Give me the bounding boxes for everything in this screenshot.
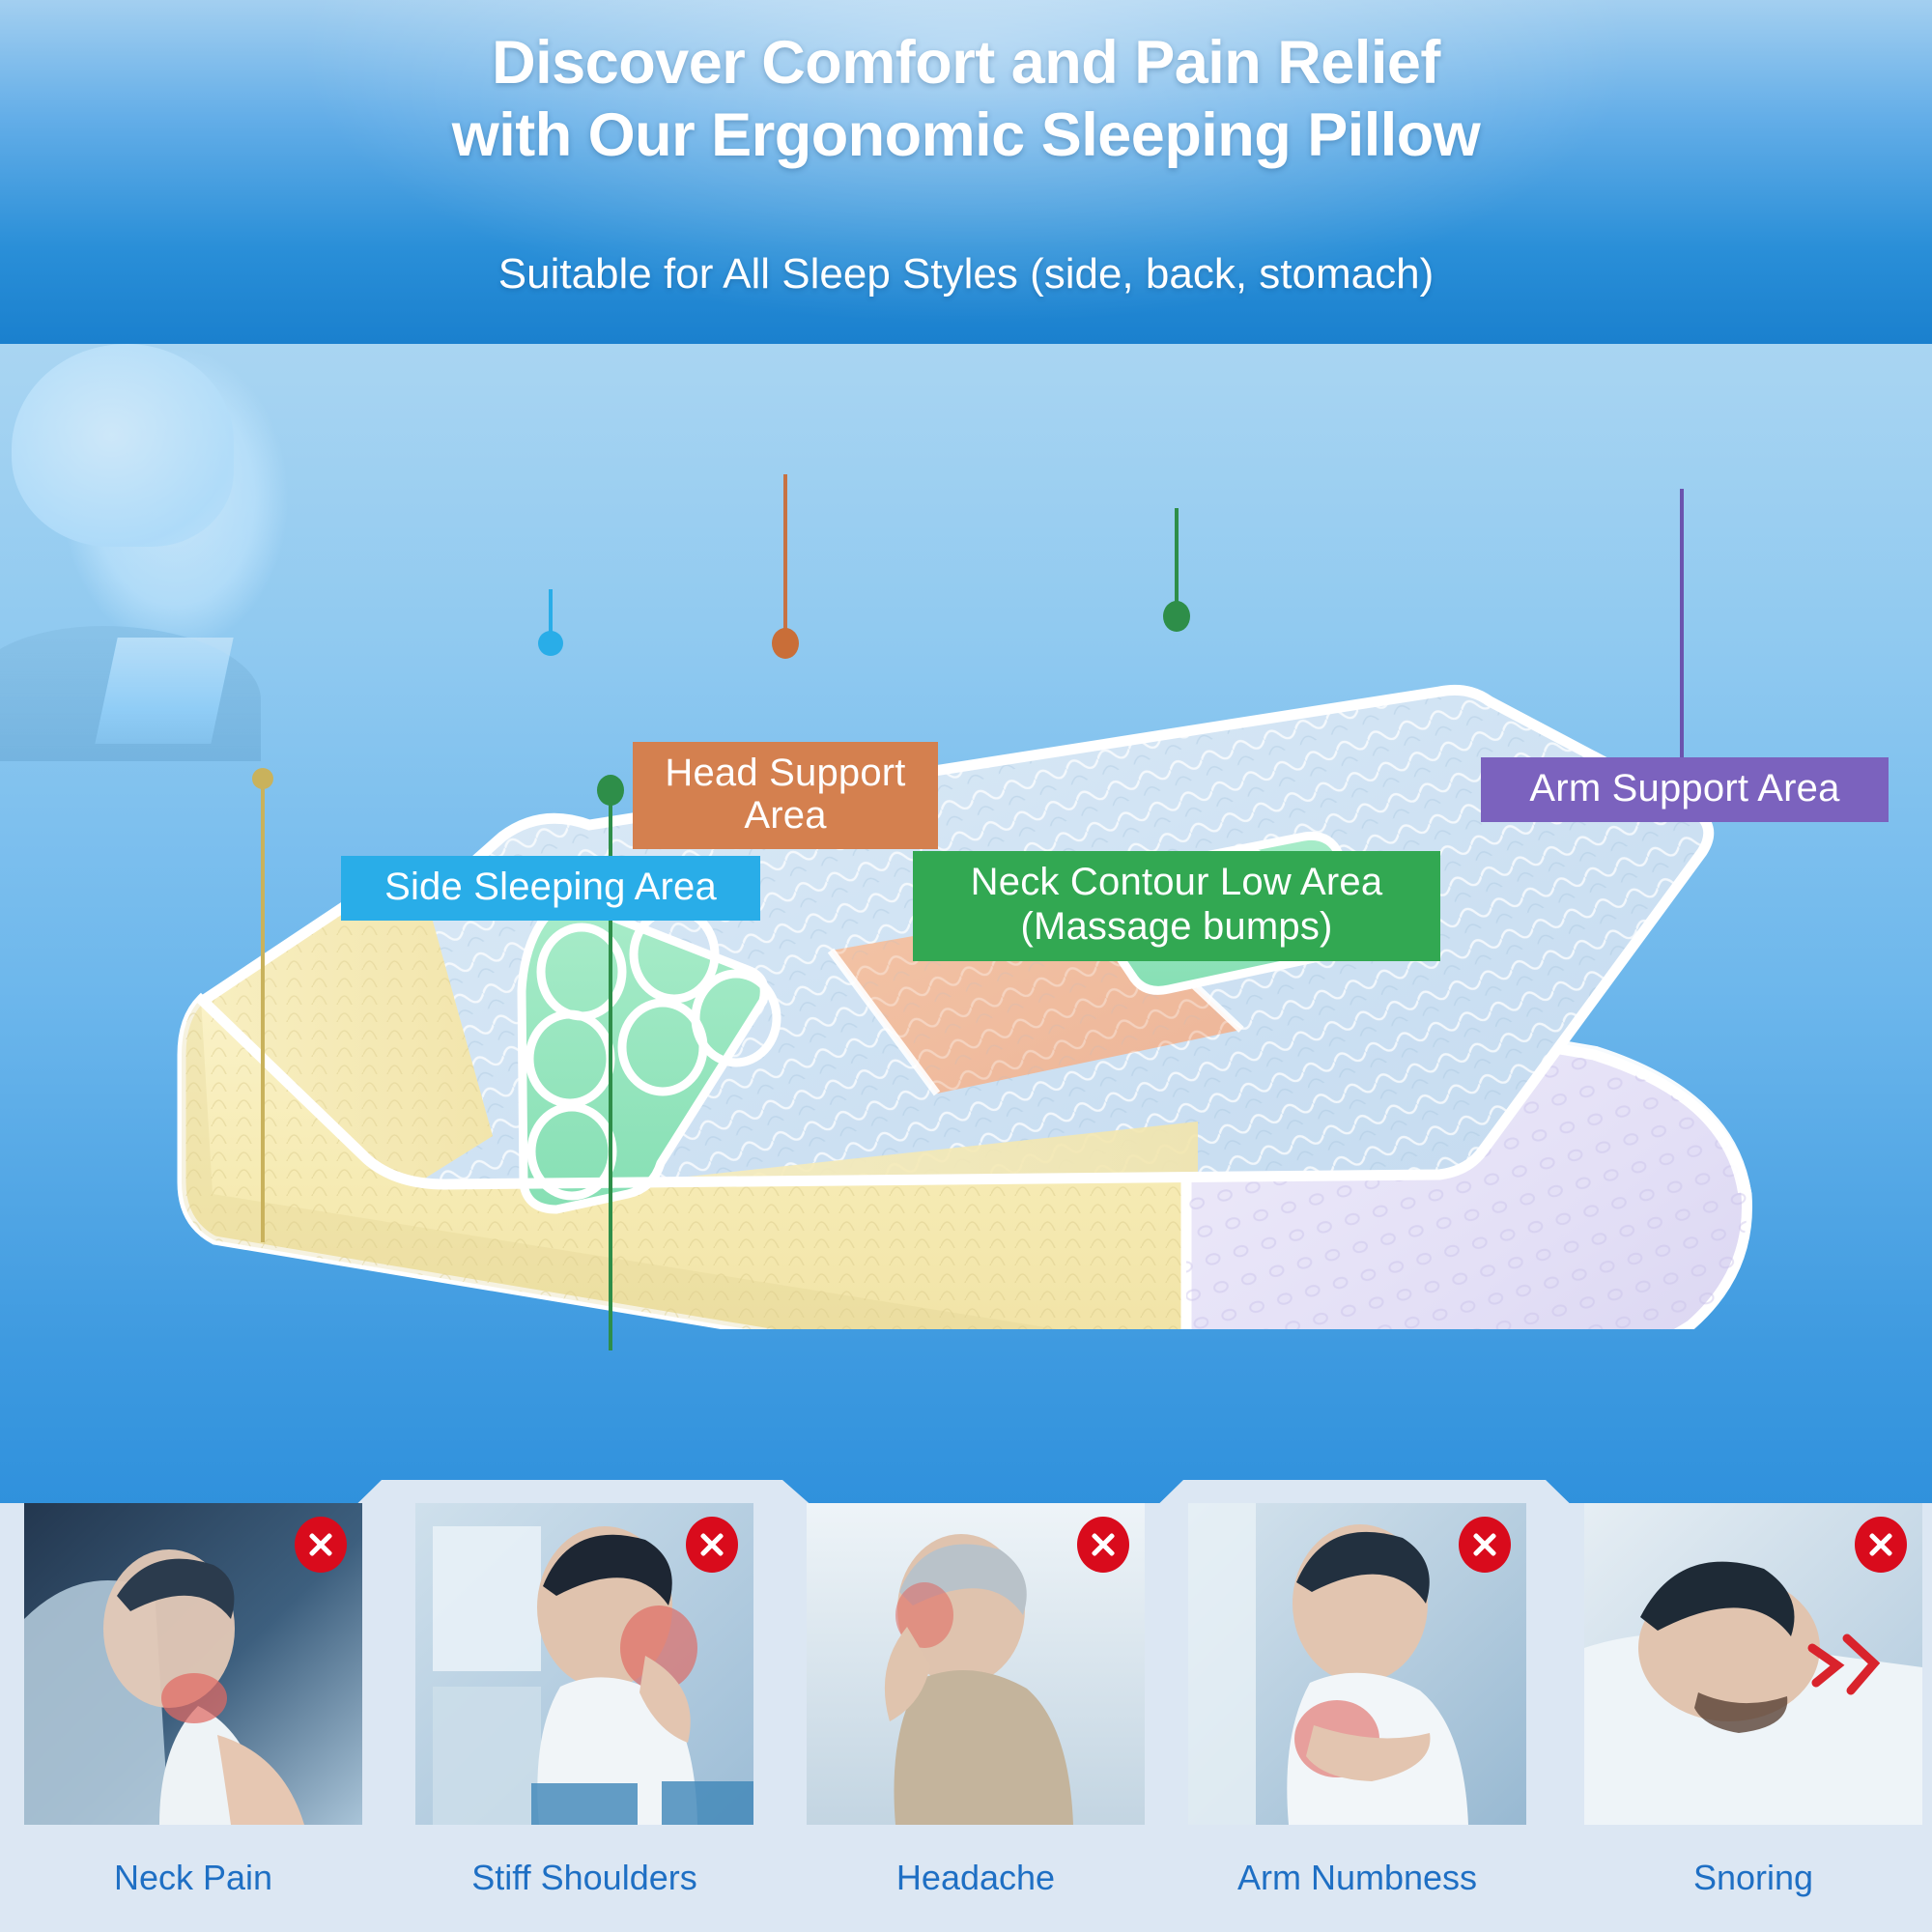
caption-headache: Headache: [807, 1858, 1145, 1898]
dot-neck-low: [1163, 601, 1190, 632]
caption-stiff-shoulders: Stiff Shoulders: [415, 1858, 753, 1898]
problem-card-neck-pain: Neck Pain: [24, 1503, 362, 1898]
label-neck-contour-low-area[interactable]: Neck Contour Low Area (Massage bumps): [913, 851, 1440, 961]
caption-neck-pain: Neck Pain: [24, 1858, 362, 1898]
dot-side-sleeping: [538, 631, 563, 656]
x-mark-icon: [1077, 1517, 1129, 1573]
problem-card-headache: Headache: [807, 1503, 1145, 1898]
infographic-page: Discover Comfort and Pain Relief with Ou…: [0, 0, 1932, 1932]
dot-shoulder-contour: [252, 768, 273, 789]
problem-strip: Neck Pain: [0, 1503, 1932, 1932]
neck-low-line-2: (Massage bumps): [1020, 905, 1332, 948]
label-head-support-area[interactable]: Head Support Area: [633, 742, 938, 849]
problem-card-arm-numbness: Arm Numbness: [1188, 1503, 1526, 1898]
header-banner: Discover Comfort and Pain Relief with Ou…: [0, 0, 1932, 344]
dot-neck-high: [597, 775, 624, 806]
title-line-1: Discover Comfort and Pain Relief: [492, 29, 1440, 97]
x-mark-icon: [686, 1517, 738, 1573]
x-mark-icon: [1855, 1517, 1907, 1573]
problem-card-stiff-shoulders: Stiff Shoulders: [415, 1503, 753, 1898]
dot-head-support: [772, 628, 799, 659]
page-subtitle: Suitable for All Sleep Styles (side, bac…: [0, 249, 1932, 299]
photo-snoring: [1584, 1503, 1922, 1825]
x-mark-icon: [295, 1517, 347, 1573]
x-mark-icon: [1459, 1517, 1511, 1573]
photo-stiff-shoulders: [415, 1503, 753, 1825]
problem-card-snoring: Snoring: [1584, 1503, 1922, 1898]
page-title: Discover Comfort and Pain Relief with Ou…: [0, 27, 1932, 172]
title-line-2: with Our Ergonomic Sleeping Pillow: [0, 99, 1932, 172]
photo-neck-pain: [24, 1503, 362, 1825]
photo-headache: [807, 1503, 1145, 1825]
product-stage: Head Support Area Side Sleeping Area Nec…: [0, 344, 1932, 1522]
caption-snoring: Snoring: [1584, 1858, 1922, 1898]
caption-arm-numbness: Arm Numbness: [1188, 1858, 1526, 1898]
label-arm-support-area[interactable]: Arm Support Area: [1481, 757, 1889, 822]
photo-arm-numbness: [1188, 1503, 1526, 1825]
neck-low-line-1: Neck Contour Low Area: [971, 861, 1383, 903]
label-side-sleeping-area[interactable]: Side Sleeping Area: [341, 856, 760, 921]
